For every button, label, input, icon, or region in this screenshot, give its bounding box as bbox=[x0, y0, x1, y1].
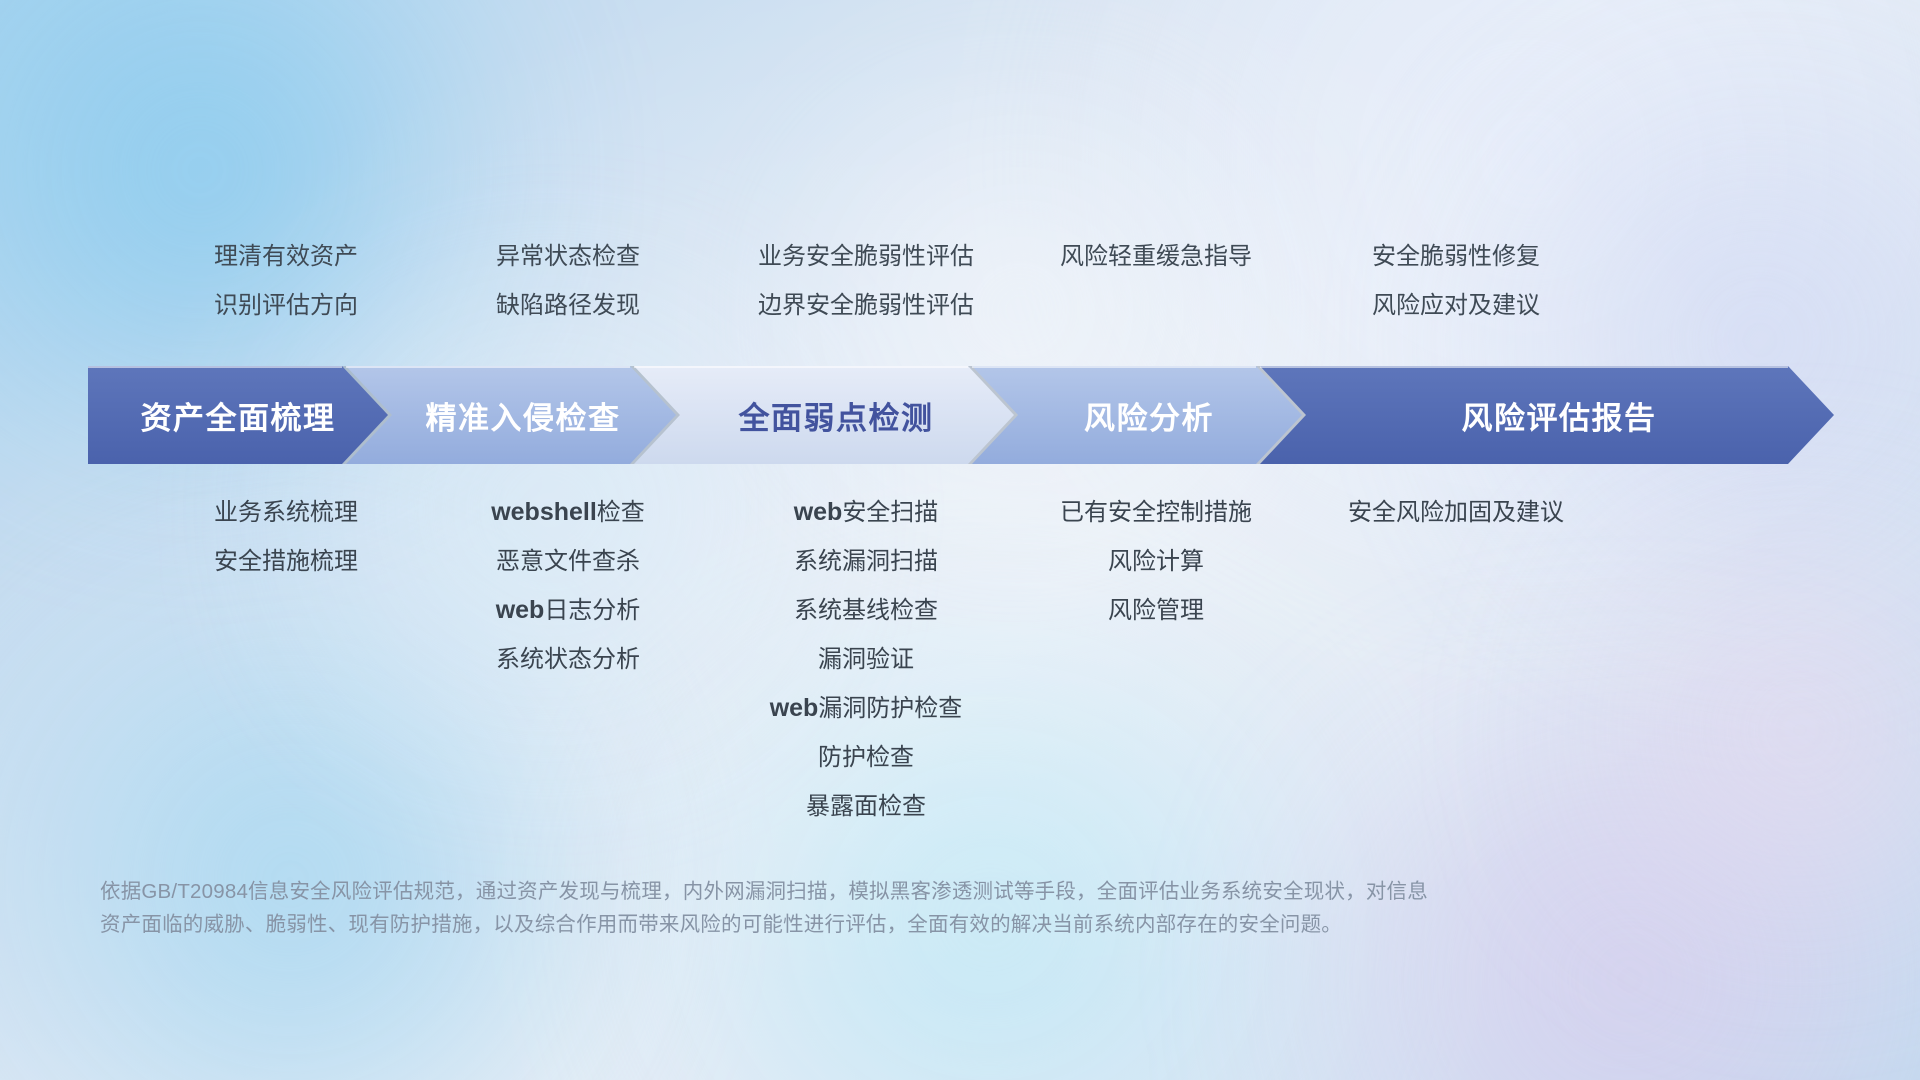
detail-item-text: 检查 bbox=[597, 499, 645, 526]
top-annotation-item: 安全脆弱性修复 bbox=[1306, 232, 1606, 281]
detail-item-text: 漏洞防护检查 bbox=[818, 695, 962, 722]
detail-item-prefix: web bbox=[794, 498, 843, 526]
detail-item-text: 日志分析 bbox=[544, 597, 640, 624]
detail-item: 系统漏洞扫描 bbox=[696, 537, 1036, 586]
detail-item-prefix: webshell bbox=[491, 498, 597, 526]
footer-description: 依据GB/T20984信息安全风险评估规范，通过资产发现与梳理，内外网漏洞扫描，… bbox=[100, 875, 1610, 941]
top-annotation-item: 异常状态检查 bbox=[438, 232, 698, 281]
top-annotation-item: 缺陷路径发现 bbox=[438, 281, 698, 330]
detail-item: 恶意文件查杀 bbox=[418, 537, 718, 586]
detail-item-prefix: web bbox=[496, 596, 545, 624]
detail-item: 风险管理 bbox=[1006, 586, 1306, 635]
detail-col-risk-report: 安全风险加固及建议 bbox=[1286, 488, 1626, 537]
top-annotation-col-risk-report: 安全脆弱性修复风险应对及建议 bbox=[1306, 232, 1606, 330]
process-stage-label: 精准入侵检查 bbox=[402, 393, 621, 438]
process-stage-weakness-detection[interactable]: 全面弱点检测 bbox=[634, 366, 1014, 464]
detail-item: 漏洞验证 bbox=[696, 635, 1036, 684]
detail-col-risk-analysis: 已有安全控制措施风险计算风险管理 bbox=[1006, 488, 1306, 635]
top-annotation-item: 识别评估方向 bbox=[156, 281, 416, 330]
detail-item: 系统状态分析 bbox=[418, 635, 718, 684]
top-annotation-col-risk-analysis: 风险轻重缓急指导 bbox=[1026, 232, 1286, 281]
detail-item: 系统基线检查 bbox=[696, 586, 1036, 635]
top-annotation-item: 理清有效资产 bbox=[156, 232, 416, 281]
detail-item-text: 安全扫描 bbox=[842, 499, 938, 526]
top-annotation-item: 边界安全脆弱性评估 bbox=[716, 281, 1016, 330]
footer-line-2: 资产面临的威胁、脆弱性、现有防护措施，以及综合作用而带来风险的可能性进行评估，全… bbox=[100, 908, 1610, 941]
top-annotations-row: 理清有效资产识别评估方向异常状态检查缺陷路径发现业务安全脆弱性评估边界安全脆弱性… bbox=[100, 232, 1830, 342]
detail-item: web安全扫描 bbox=[696, 488, 1036, 537]
process-stage-label: 资产全面梳理 bbox=[141, 393, 336, 438]
detail-item: web日志分析 bbox=[418, 586, 718, 635]
top-annotation-col-intrusion-check: 异常状态检查缺陷路径发现 bbox=[438, 232, 698, 330]
detail-item: 业务系统梳理 bbox=[136, 488, 436, 537]
detail-col-weakness-detection: web安全扫描系统漏洞扫描系统基线检查漏洞验证web漏洞防护检查防护检查暴露面检… bbox=[696, 488, 1036, 831]
process-stage-intrusion-check[interactable]: 精准入侵检查 bbox=[346, 366, 676, 464]
detail-item: 防护检查 bbox=[696, 733, 1036, 782]
process-chevron-band: 资产全面梳理精准入侵检查全面弱点检测风险分析风险评估报告 bbox=[88, 366, 1834, 464]
detail-item: 风险计算 bbox=[1006, 537, 1306, 586]
detail-item: 暴露面检查 bbox=[696, 782, 1036, 831]
top-annotation-item: 业务安全脆弱性评估 bbox=[716, 232, 1016, 281]
footer-line-1: 依据GB/T20984信息安全风险评估规范，通过资产发现与梳理，内外网漏洞扫描，… bbox=[100, 875, 1610, 908]
detail-item-prefix: web bbox=[770, 694, 819, 722]
top-annotation-col-weakness-detection: 业务安全脆弱性评估边界安全脆弱性评估 bbox=[716, 232, 1016, 330]
process-stage-risk-analysis[interactable]: 风险分析 bbox=[972, 366, 1302, 464]
detail-item: 安全措施梳理 bbox=[136, 537, 436, 586]
slide-canvas: 理清有效资产识别评估方向异常状态检查缺陷路径发现业务安全脆弱性评估边界安全脆弱性… bbox=[0, 0, 1920, 1080]
process-stage-risk-report[interactable]: 风险评估报告 bbox=[1260, 366, 1834, 464]
top-annotation-item: 风险轻重缓急指导 bbox=[1026, 232, 1286, 281]
detail-item: web漏洞防护检查 bbox=[696, 684, 1036, 733]
detail-col-asset-inventory: 业务系统梳理安全措施梳理 bbox=[136, 488, 436, 586]
detail-col-intrusion-check: webshell检查恶意文件查杀web日志分析系统状态分析 bbox=[418, 488, 718, 684]
detail-item: 安全风险加固及建议 bbox=[1286, 488, 1626, 537]
process-stage-label: 全面弱点检测 bbox=[715, 393, 934, 438]
process-stage-asset-inventory[interactable]: 资产全面梳理 bbox=[88, 366, 388, 464]
top-annotation-col-asset-inventory: 理清有效资产识别评估方向 bbox=[156, 232, 416, 330]
process-stage-label: 风险评估报告 bbox=[1438, 393, 1657, 438]
process-stage-label: 风险分析 bbox=[1060, 393, 1214, 438]
detail-item: 已有安全控制措施 bbox=[1006, 488, 1306, 537]
top-annotation-item: 风险应对及建议 bbox=[1306, 281, 1606, 330]
detail-item: webshell检查 bbox=[418, 488, 718, 537]
